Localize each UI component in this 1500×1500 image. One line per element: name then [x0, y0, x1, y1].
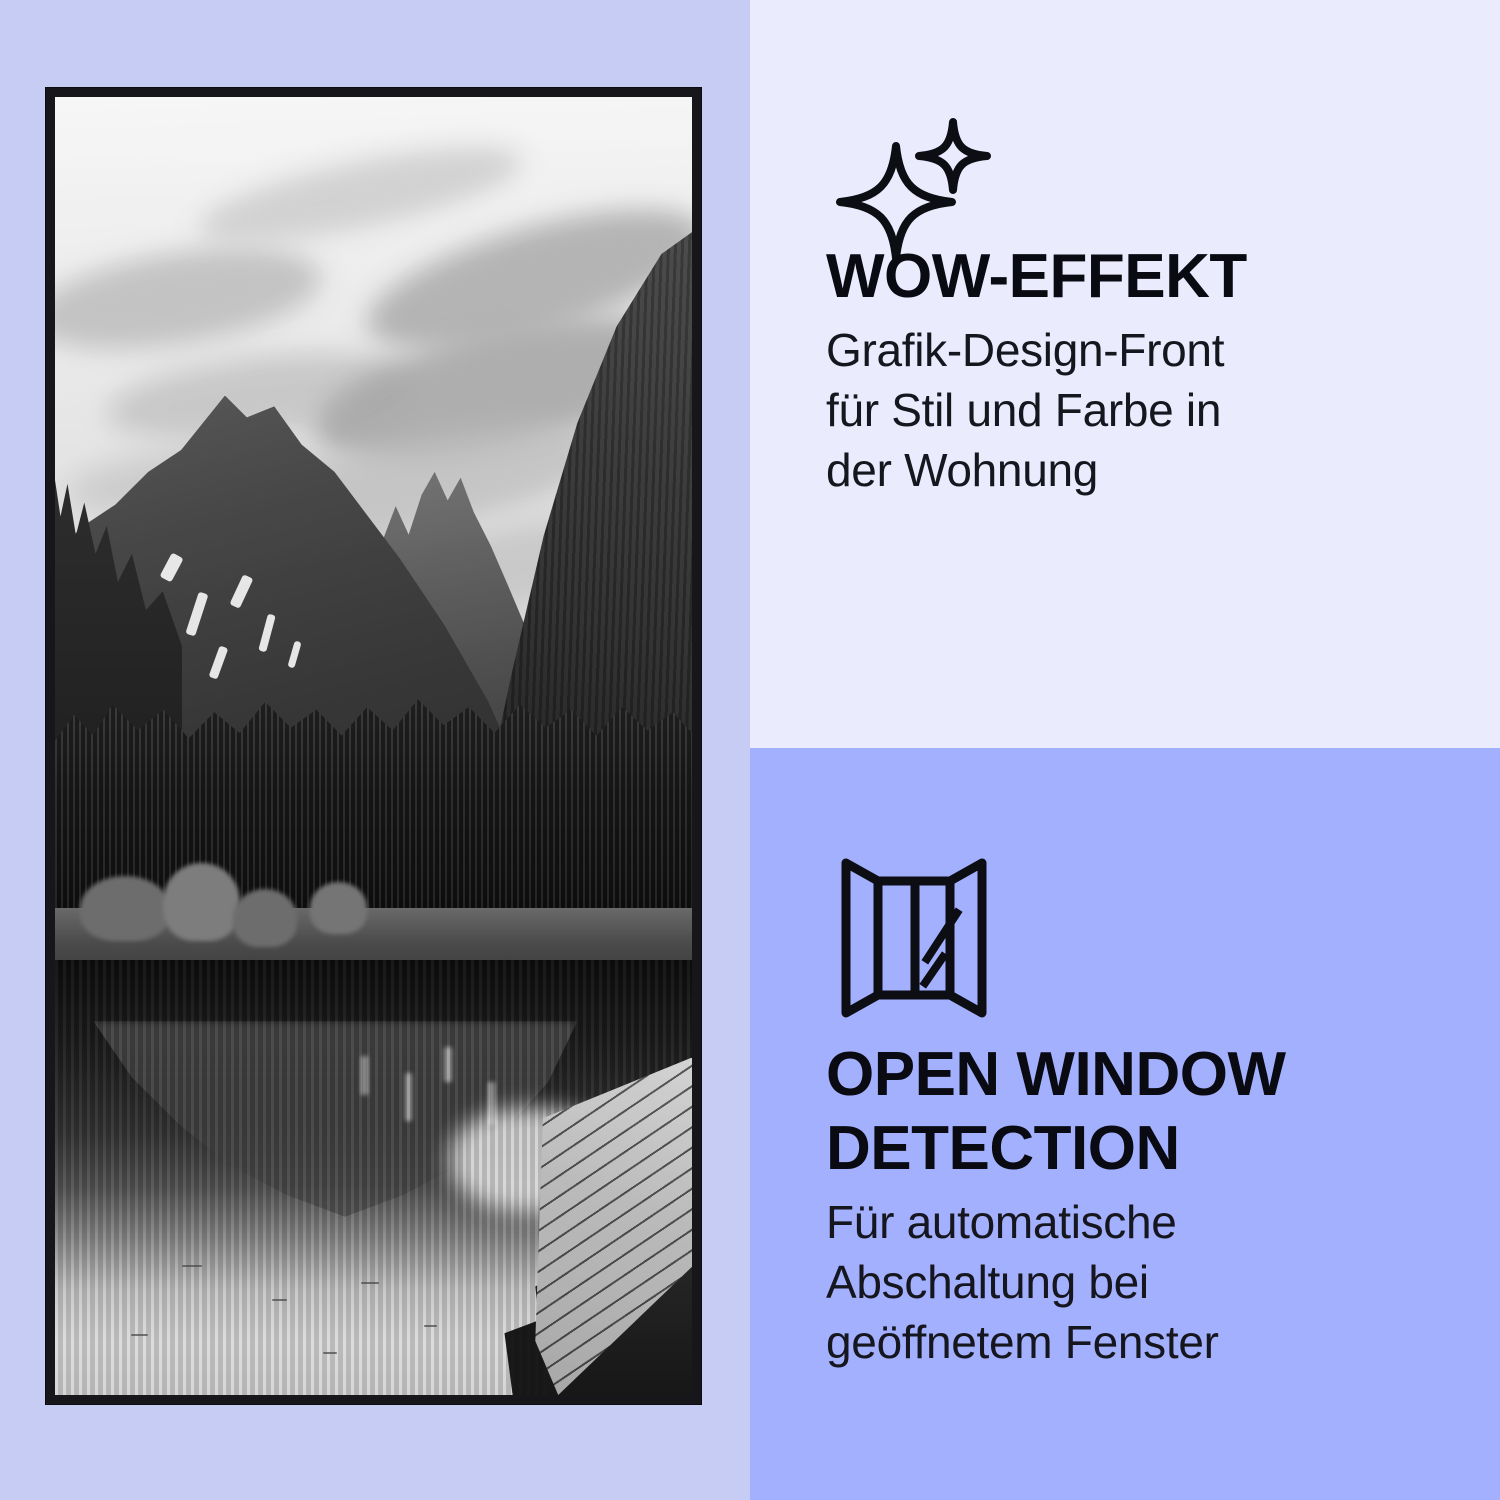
product-image-panel	[0, 0, 750, 1500]
feature-panel-open-window-detection: OPEN WINDOW DETECTION Für automatische A…	[750, 748, 1500, 1500]
marketing-infographic: WOW-EFFEKT Grafik-Design-Front für Stil …	[0, 0, 1500, 1500]
shrub	[233, 889, 297, 947]
feature-title: WOW-EFFEKT	[826, 240, 1426, 314]
shrub	[80, 876, 169, 941]
feature-description: Grafik-Design-Front für Stil und Farbe i…	[826, 320, 1426, 500]
picture-frame	[46, 88, 701, 1404]
feature-text-wow-effekt: WOW-EFFEKT Grafik-Design-Front für Stil …	[826, 240, 1426, 500]
feature-title: OPEN WINDOW DETECTION	[826, 1038, 1426, 1186]
feature-text-open-window-detection: OPEN WINDOW DETECTION Für automatische A…	[826, 1038, 1426, 1372]
shrub	[310, 882, 367, 934]
shrub	[163, 863, 239, 941]
landscape-photo	[55, 97, 692, 1395]
feature-panel-wow-effekt: WOW-EFFEKT Grafik-Design-Front für Stil …	[750, 0, 1500, 748]
open-window-icon	[826, 853, 1001, 1028]
feature-description: Für automatische Abschaltung bei geöffne…	[826, 1192, 1426, 1372]
